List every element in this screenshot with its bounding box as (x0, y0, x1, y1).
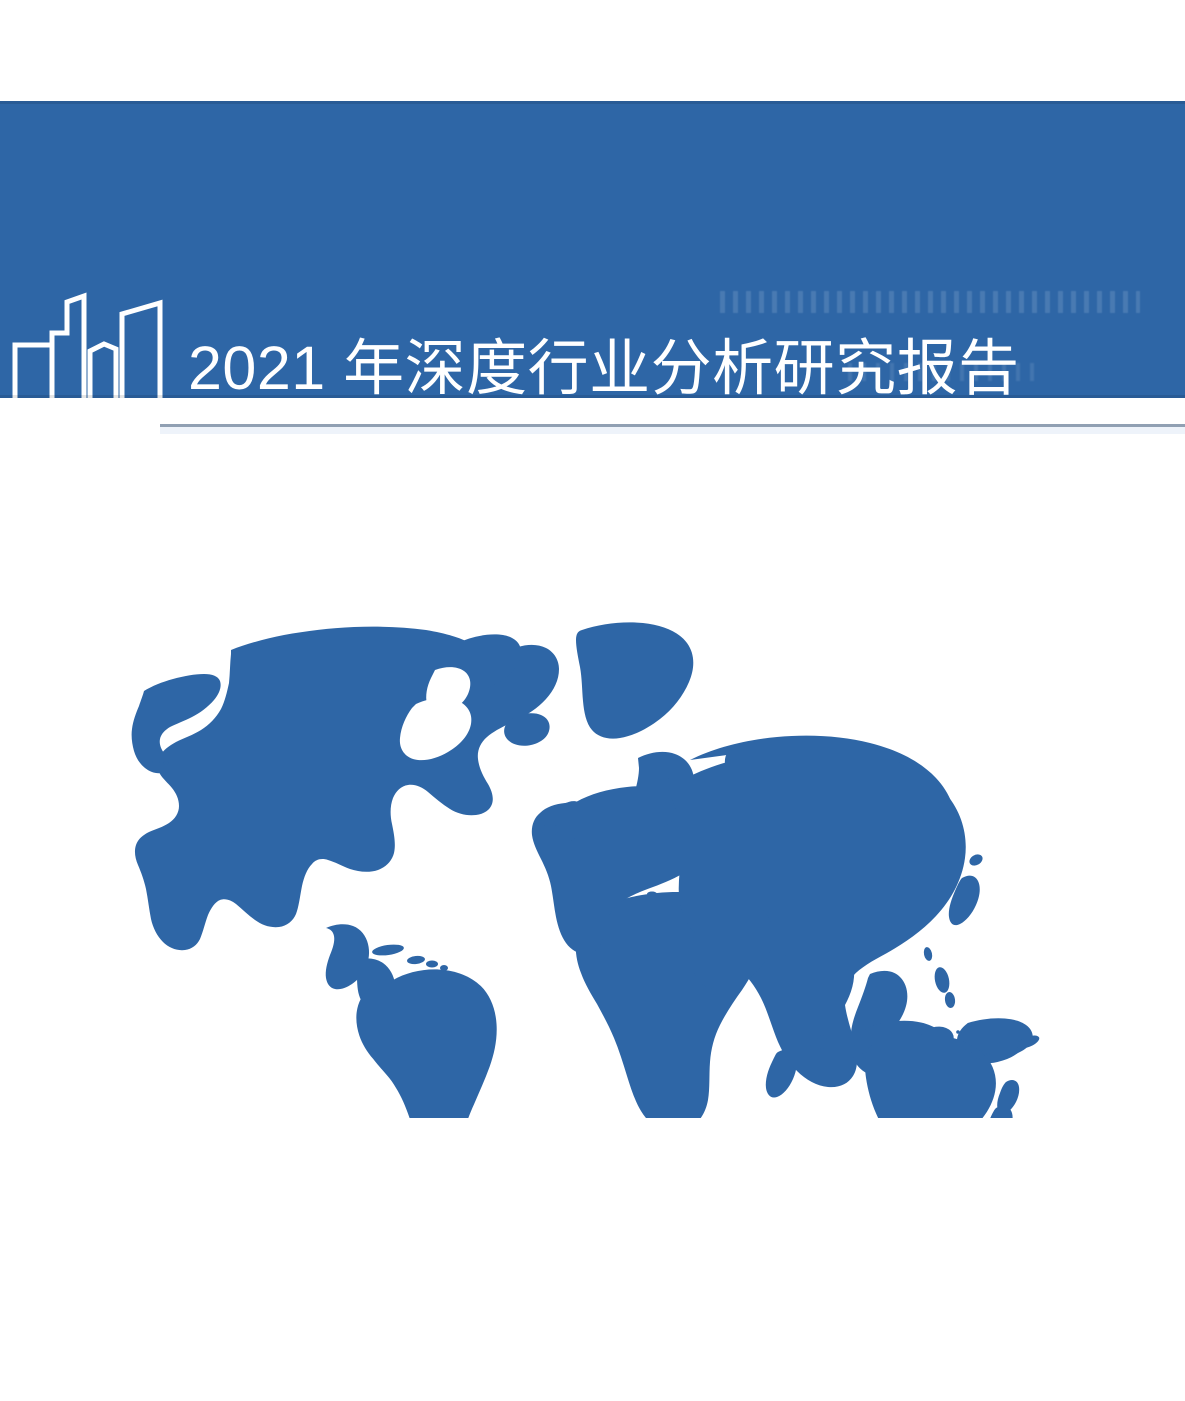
watermark-smudge-icon (720, 291, 1140, 313)
header-baseline-rule (160, 427, 1185, 434)
world-map-silhouette (130, 608, 1055, 1118)
report-cover-page: 2021 年深度行业分析研究报告 (0, 0, 1185, 1401)
page-title: 2021 年深度行业分析研究报告 (188, 329, 1020, 407)
city-skyline-icon (12, 287, 192, 439)
header-banner: 2021 年深度行业分析研究报告 (0, 101, 1185, 398)
